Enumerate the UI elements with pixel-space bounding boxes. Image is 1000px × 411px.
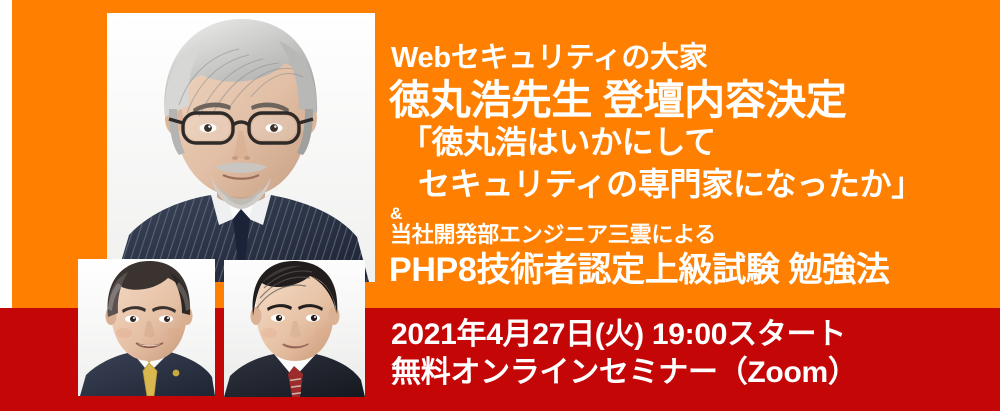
main-title: 徳丸浩先生 登壇内容決定	[389, 80, 846, 121]
seminar-banner: Webセキュリティの大家 徳丸浩先生 登壇内容決定 「徳丸浩はいかにして セキュ…	[0, 0, 1000, 411]
ampersand-separator: &	[390, 205, 402, 222]
second-session-byline: 当社開発部エンジニア三雲による	[390, 224, 716, 246]
event-venue: 無料オンラインセミナー（Zoom）	[391, 358, 858, 388]
session-quote-line-2: セキュリティの専門家になったか」	[418, 168, 923, 200]
banner-text-column: Webセキュリティの大家 徳丸浩先生 登壇内容決定 「徳丸浩はいかにして セキュ…	[0, 0, 1000, 411]
event-date-time: 2021年4月27日(火) 19:00スタート	[391, 320, 846, 350]
kicker-text: Webセキュリティの大家	[391, 44, 707, 73]
session-quote-line-1: 「徳丸浩はいかにして	[400, 126, 716, 158]
second-session-topic: PHP8技術者認定上級試験 勉強法	[389, 253, 889, 287]
